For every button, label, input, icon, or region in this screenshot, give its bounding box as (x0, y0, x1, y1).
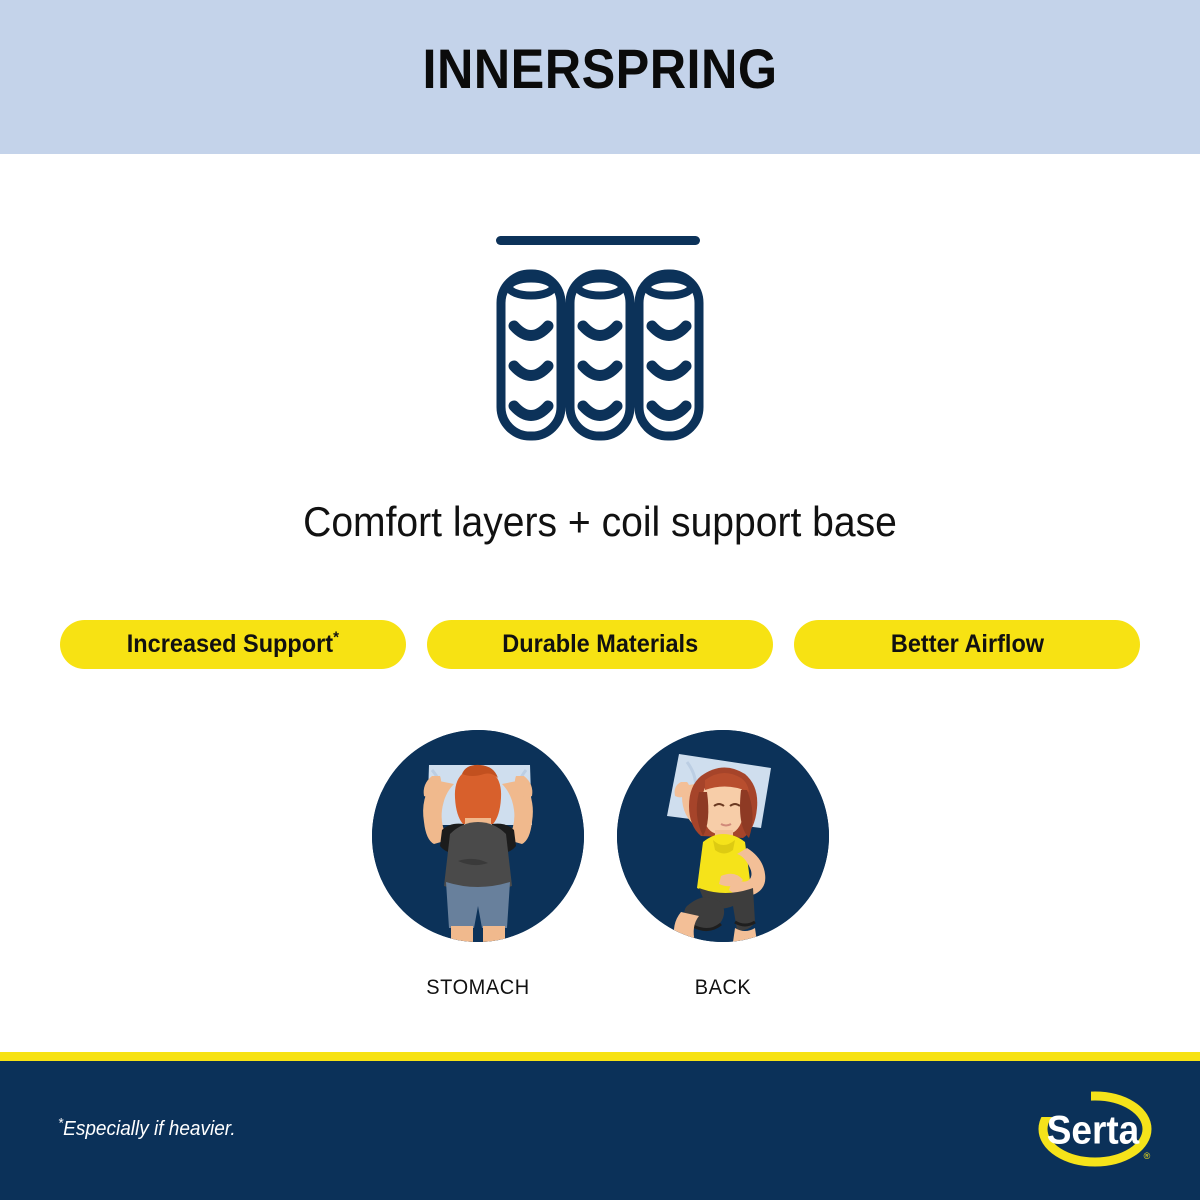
coil-2 (570, 274, 630, 436)
sleep-position-stomach[interactable]: STOMACH (372, 730, 584, 1000)
innerspring-infographic: INNERSPRING (0, 0, 1200, 1200)
serta-logo[interactable]: Serta ® (1035, 1085, 1163, 1177)
footer-accent-stripe (0, 1052, 1200, 1061)
footnote-text: *Especially if heavier. (58, 1118, 236, 1141)
benefit-label: Better Airflow (890, 630, 1043, 659)
three-coils-icon (470, 225, 730, 450)
back-sleeper-illustration (617, 730, 829, 942)
benefit-label: Durable Materials (502, 630, 698, 659)
registered-mark: ® (1144, 1151, 1151, 1161)
construction-subtitle: Comfort layers + coil support base (42, 498, 1158, 546)
coil-top-bar (496, 236, 700, 245)
logo-wordmark: Serta (1047, 1108, 1140, 1153)
benefit-pill-better-airflow[interactable]: Better Airflow (794, 620, 1140, 669)
footnote-marker: * (333, 630, 339, 647)
coil-1 (501, 274, 561, 436)
coil-3 (639, 274, 699, 436)
sleep-position-back[interactable]: BACK (617, 730, 829, 1000)
header-band: INNERSPRING (0, 0, 1200, 154)
sleep-position-label: STOMACH (377, 976, 578, 1000)
page-title: INNERSPRING (60, 41, 1140, 97)
benefit-pill-increased-support[interactable]: Increased Support* (60, 620, 406, 669)
benefit-pill-row: Increased Support* Durable Materials Bet… (60, 620, 1140, 669)
sleep-position-label: BACK (622, 976, 823, 1000)
shirt (444, 822, 512, 892)
stomach-sleeper-illustration (372, 730, 584, 942)
benefit-pill-durable-materials[interactable]: Durable Materials (427, 620, 773, 669)
benefit-label: Increased Support* (127, 630, 339, 659)
sleep-position-row: STOMACH (0, 730, 1200, 1020)
